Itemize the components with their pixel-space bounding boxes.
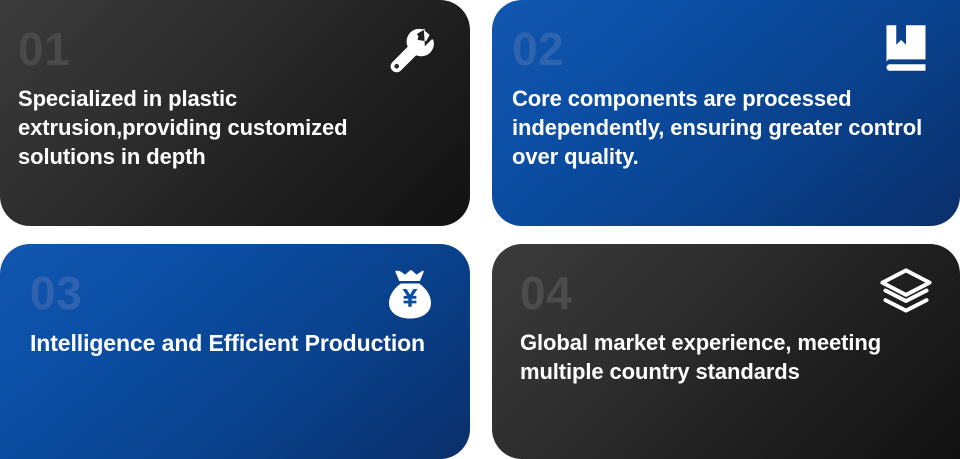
feature-card-02[interactable]: 02 Core components are processed indepen… [492, 0, 960, 226]
card-number-04: 04 [520, 270, 932, 316]
card-text-01: Specialized in plastic extrusion,providi… [18, 84, 442, 171]
card-text-03: Intelligence and Efficient Production [30, 328, 442, 358]
card-number-03: 03 [30, 270, 442, 316]
feature-card-grid: 01 Specialized in plastic extrusion,prov… [0, 0, 960, 459]
card-text-04: Global market experience, meeting multip… [520, 328, 932, 386]
card-number-01: 01 [18, 26, 442, 72]
feature-card-01[interactable]: 01 Specialized in plastic extrusion,prov… [0, 0, 470, 226]
feature-card-03[interactable]: 03 Intelligence and Efficient Production [0, 244, 470, 459]
card-text-02: Core components are processed independen… [512, 84, 932, 171]
feature-card-04[interactable]: 04 Global market experience, meeting mul… [492, 244, 960, 459]
card-number-02: 02 [512, 26, 932, 72]
